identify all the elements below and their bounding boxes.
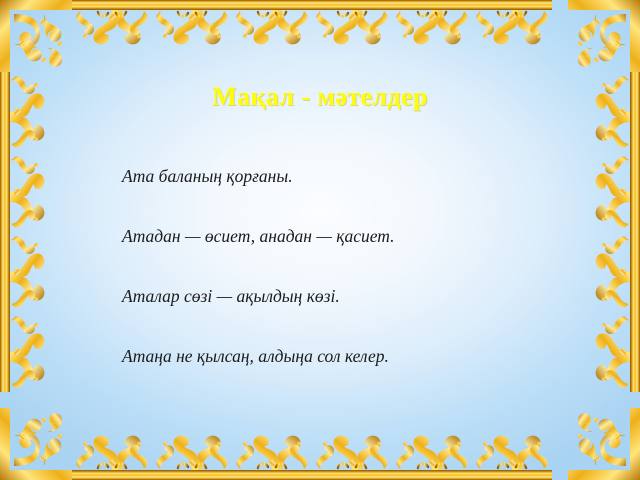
presentation-slide: Мақал - мәтелдер Ата баланың қорғаны. Ат… <box>0 0 640 480</box>
proverb-list: Ата баланың қорғаны. Атадан — өсиет, ана… <box>122 166 562 366</box>
slide-content: Мақал - мәтелдер Ата баланың қорғаны. Ат… <box>0 0 640 480</box>
slide-title: Мақал - мәтелдер <box>0 82 640 112</box>
proverb-line: Аталар сөзі — ақылдың көзі. <box>122 286 562 306</box>
proverb-line: Ата баланың қорғаны. <box>122 166 562 186</box>
proverb-line: Атаңа не қылсаң, алдыңа сол келер. <box>122 346 562 366</box>
proverb-line: Атадан — өсиет, анадан — қасиет. <box>122 226 562 246</box>
